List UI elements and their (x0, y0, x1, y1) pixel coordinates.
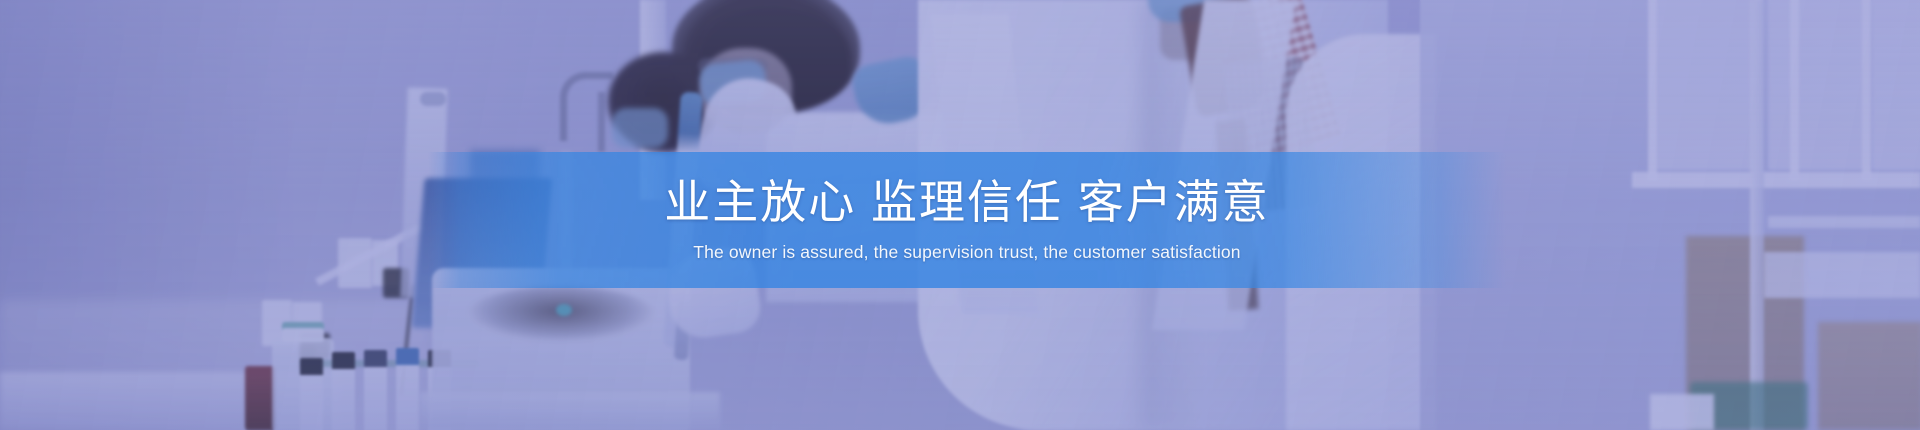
slogan-block: 业主放心 监理信任 客户满意 The owner is assured, the… (428, 152, 1506, 288)
subtitle-english: The owner is assured, the supervision tr… (693, 239, 1240, 265)
headline-chinese: 业主放心 监理信任 客户满意 (664, 175, 1270, 229)
hero-banner: 业主放心 监理信任 客户满意 The owner is assured, the… (0, 0, 1920, 430)
